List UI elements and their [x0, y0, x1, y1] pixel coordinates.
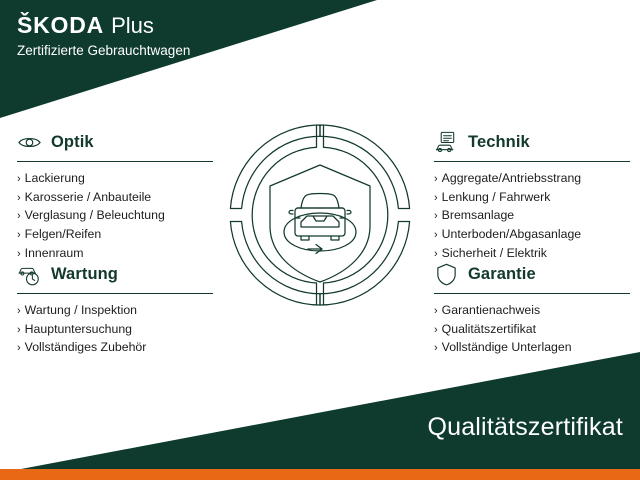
certificate-page: ŠKODA Plus Zertifizierte Gebrauchtwagen …	[0, 0, 640, 480]
section-optik: Optik ›Lackierung ›Karosserie / Anbautei…	[17, 128, 213, 262]
chevron-right-icon: ›	[17, 306, 21, 317]
chevron-right-icon: ›	[17, 325, 21, 336]
footer-title: Qualitätszertifikat	[427, 413, 623, 442]
chevron-right-icon: ›	[434, 306, 438, 317]
list-item-label: Hauptuntersuchung	[25, 320, 132, 339]
chevron-right-icon: ›	[17, 174, 21, 185]
car-document-icon	[434, 130, 459, 155]
logo-wordmark-row: ŠKODA Plus	[17, 14, 190, 37]
section-technik-title: Technik	[468, 133, 530, 152]
list-item-label: Unterboden/Abgasanlage	[442, 225, 581, 244]
chevron-right-icon: ›	[434, 174, 438, 185]
list-item: ›Vollständige Unterlagen	[434, 338, 630, 357]
section-garantie-list: ›Garantienachweis ›Qualitätszertifikat ›…	[434, 301, 630, 357]
list-item: ›Vollständiges Zubehör	[17, 338, 213, 357]
section-garantie-header: Garantie	[434, 260, 630, 288]
certified-vehicle-emblem	[227, 122, 413, 308]
chevron-right-icon: ›	[17, 211, 21, 222]
chevron-right-icon: ›	[434, 325, 438, 336]
list-item-label: Wartung / Inspektion	[25, 301, 137, 320]
chevron-right-icon: ›	[434, 230, 438, 241]
list-item-label: Lenkung / Fahrwerk	[442, 188, 551, 207]
section-garantie-title: Garantie	[468, 265, 536, 284]
section-garantie: Garantie ›Garantienachweis ›Qualitätszer…	[434, 260, 630, 357]
section-wartung-rule	[17, 293, 213, 294]
list-item: ›Qualitätszertifikat	[434, 320, 630, 339]
section-optik-list: ›Lackierung ›Karosserie / Anbauteile ›Ve…	[17, 169, 213, 262]
list-item: ›Felgen/Reifen	[17, 225, 213, 244]
list-item: ›Garantienachweis	[434, 301, 630, 320]
logo-subtitle: Zertifizierte Gebrauchtwagen	[17, 44, 190, 58]
list-item-label: Lackierung	[25, 169, 85, 188]
logo-plus-text: Plus	[111, 15, 154, 37]
section-technik-list: ›Aggregate/Antriebsstrang ›Lenkung / Fah…	[434, 169, 630, 262]
brand-logo: ŠKODA Plus Zertifizierte Gebrauchtwagen	[17, 14, 190, 58]
chevron-right-icon: ›	[434, 249, 438, 260]
list-item-label: Aggregate/Antriebsstrang	[442, 169, 581, 188]
shield-icon	[434, 262, 459, 287]
eye-icon	[17, 130, 42, 155]
list-item: ›Wartung / Inspektion	[17, 301, 213, 320]
chevron-right-icon: ›	[434, 193, 438, 204]
list-item: ›Lackierung	[17, 169, 213, 188]
chevron-right-icon: ›	[434, 211, 438, 222]
chevron-right-icon: ›	[17, 193, 21, 204]
section-technik-rule	[434, 161, 630, 162]
chevron-right-icon: ›	[434, 343, 438, 354]
list-item: ›Aggregate/Antriebsstrang	[434, 169, 630, 188]
section-technik: Technik ›Aggregate/Antriebsstrang ›Lenku…	[434, 128, 630, 262]
list-item: ›Hauptuntersuchung	[17, 320, 213, 339]
section-wartung-list: ›Wartung / Inspektion ›Hauptuntersuchung…	[17, 301, 213, 357]
section-wartung: Wartung ›Wartung / Inspektion ›Hauptunte…	[17, 260, 213, 357]
list-item: ›Lenkung / Fahrwerk	[434, 188, 630, 207]
section-optik-header: Optik	[17, 128, 213, 156]
chevron-right-icon: ›	[17, 343, 21, 354]
list-item: ›Unterboden/Abgasanlage	[434, 225, 630, 244]
outer-ring	[230, 125, 409, 305]
list-item-label: Verglasung / Beleuchtung	[25, 206, 165, 225]
list-item-label: Felgen/Reifen	[25, 225, 102, 244]
list-item: ›Karosserie / Anbauteile	[17, 188, 213, 207]
list-item: ›Bremsanlage	[434, 206, 630, 225]
rotating-arrow-head	[308, 245, 322, 254]
list-item-label: Karosserie / Anbauteile	[25, 188, 151, 207]
list-item-label: Vollständige Unterlagen	[442, 338, 572, 357]
logo-skoda-text: ŠKODA	[17, 14, 104, 37]
chevron-right-icon: ›	[17, 249, 21, 260]
section-wartung-header: Wartung	[17, 260, 213, 288]
section-optik-rule	[17, 161, 213, 162]
section-technik-header: Technik	[434, 128, 630, 156]
list-item: ›Verglasung / Beleuchtung	[17, 206, 213, 225]
shield-outline	[270, 165, 370, 282]
list-item-label: Vollständiges Zubehör	[25, 338, 147, 357]
list-item-label: Qualitätszertifikat	[442, 320, 536, 339]
car-clock-icon	[17, 262, 42, 287]
section-wartung-title: Wartung	[51, 265, 118, 284]
list-item-label: Bremsanlage	[442, 206, 514, 225]
section-garantie-rule	[434, 293, 630, 294]
section-optik-title: Optik	[51, 133, 94, 152]
chevron-right-icon: ›	[17, 230, 21, 241]
list-item-label: Garantienachweis	[442, 301, 540, 320]
orange-accent-bar	[0, 469, 640, 480]
